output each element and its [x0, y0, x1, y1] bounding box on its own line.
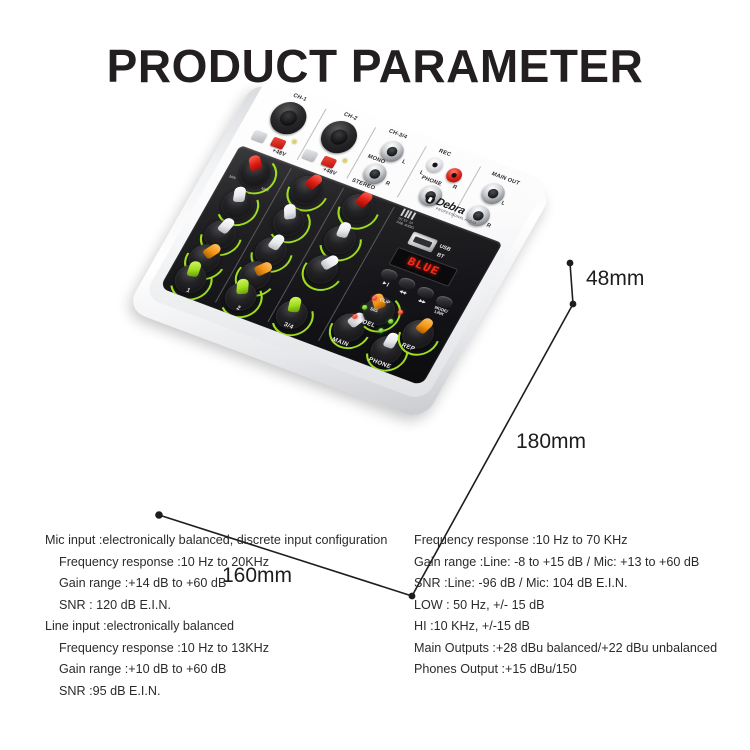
led-display-text: BLUE — [404, 255, 442, 279]
pad-button-ch2[interactable] — [301, 148, 318, 161]
dimension-label-height: 48mm — [586, 267, 644, 291]
dimension-endpoint — [570, 301, 577, 308]
spec-line: Gain range :Line: -8 to +15 dB / Mic: +1… — [414, 552, 744, 574]
rca-jack-rec-right[interactable] — [443, 166, 465, 184]
spec-line: Gain range :+10 dB to +60 dB — [45, 659, 405, 681]
phantom-led-ch1 — [291, 139, 297, 144]
product-parameter-page: PRODUCT PARAMETER CH-1 +48V — [0, 0, 750, 750]
audio-mixer-device: CH-1 +48V CH-2 +48V CH-3/4 — [143, 76, 549, 401]
pad-button-ch1[interactable] — [251, 130, 268, 143]
label-left-ch34: L — [401, 159, 407, 166]
specifications-section: Mic input :electronically balanced, disc… — [0, 530, 750, 740]
label-right-main: R — [485, 223, 492, 230]
dimension-endpoint — [567, 260, 574, 267]
spec-line: SNR :Line: -96 dB / Mic: 104 dB E.I.N. — [414, 573, 744, 595]
spec-line: SNR :95 dB E.I.N. — [45, 681, 405, 703]
spec-bars-icon — [400, 208, 416, 220]
knob-low-ch34[interactable] — [300, 251, 343, 288]
spec-line: SNR : 120 dB E.I.N. — [45, 595, 405, 617]
rca-jack-rec-left[interactable] — [424, 156, 446, 174]
spec-line: Frequency response :10 Hz to 70 KHz — [414, 530, 744, 552]
dimension-label-depth: 180mm — [516, 430, 586, 454]
page-title: PRODUCT PARAMETER — [0, 43, 750, 89]
knob-cap — [233, 187, 247, 202]
xlr-combo-jack-ch1[interactable] — [264, 97, 313, 139]
spec-line: Mic input :electronically balanced, disc… — [45, 530, 405, 552]
label-rec: REC — [437, 148, 452, 158]
spec-line: Phones Output :+15 dBu/150 — [414, 659, 744, 681]
label-right-rec: R — [451, 184, 458, 191]
bt-label: BT — [435, 252, 445, 260]
spec-line: Gain range :+14 dB to +60 dB — [45, 573, 405, 595]
phantom-power-button-ch1[interactable] — [270, 137, 287, 150]
spec-line: Line input :electronically balanced — [45, 616, 405, 638]
label-left-main: L — [500, 200, 506, 207]
spec-column-left: Mic input :electronically balanced, disc… — [45, 530, 405, 702]
rating-spec-block: DC 5V 1AUSB AUDIO — [396, 208, 422, 229]
spec-line: LOW : 50 Hz, +/- 15 dB — [414, 595, 744, 617]
knob-gain-ch34[interactable] — [336, 190, 379, 227]
phantom-led-ch2 — [342, 158, 348, 163]
phantom-power-button-ch2[interactable] — [320, 155, 337, 168]
product-illustration: CH-1 +48V CH-2 +48V CH-3/4 — [0, 100, 750, 520]
label-right-ch34: R — [384, 181, 391, 188]
spec-line: HI :10 KHz, +/-15 dB — [414, 616, 744, 638]
knob-cap — [236, 279, 249, 295]
mixer-chassis-top: CH-1 +48V CH-2 +48V CH-3/4 — [143, 76, 549, 401]
spec-line: Frequency response :10 Hz to 13KHz — [45, 638, 405, 660]
peak-led-right — [377, 327, 384, 333]
dimension-line-height — [570, 263, 573, 304]
knob-tick-min: MIN — [228, 174, 236, 180]
usb-port[interactable] — [407, 231, 438, 252]
usb-label: USB — [438, 244, 452, 253]
knob-level-ch1[interactable] — [169, 261, 212, 298]
knob-cap — [284, 203, 296, 220]
spec-line: Frequency response :10 Hz to 20KHz — [45, 552, 405, 574]
xlr-combo-jack-ch2[interactable] — [315, 116, 364, 158]
dimension-endpoint — [155, 511, 163, 519]
label-ch34: CH-3/4 — [387, 129, 408, 141]
spec-column-right: Frequency response :10 Hz to 70 KHzGain … — [414, 530, 744, 681]
spec-line: Main Outputs :+28 dBu balanced/+22 dBu u… — [414, 638, 744, 660]
